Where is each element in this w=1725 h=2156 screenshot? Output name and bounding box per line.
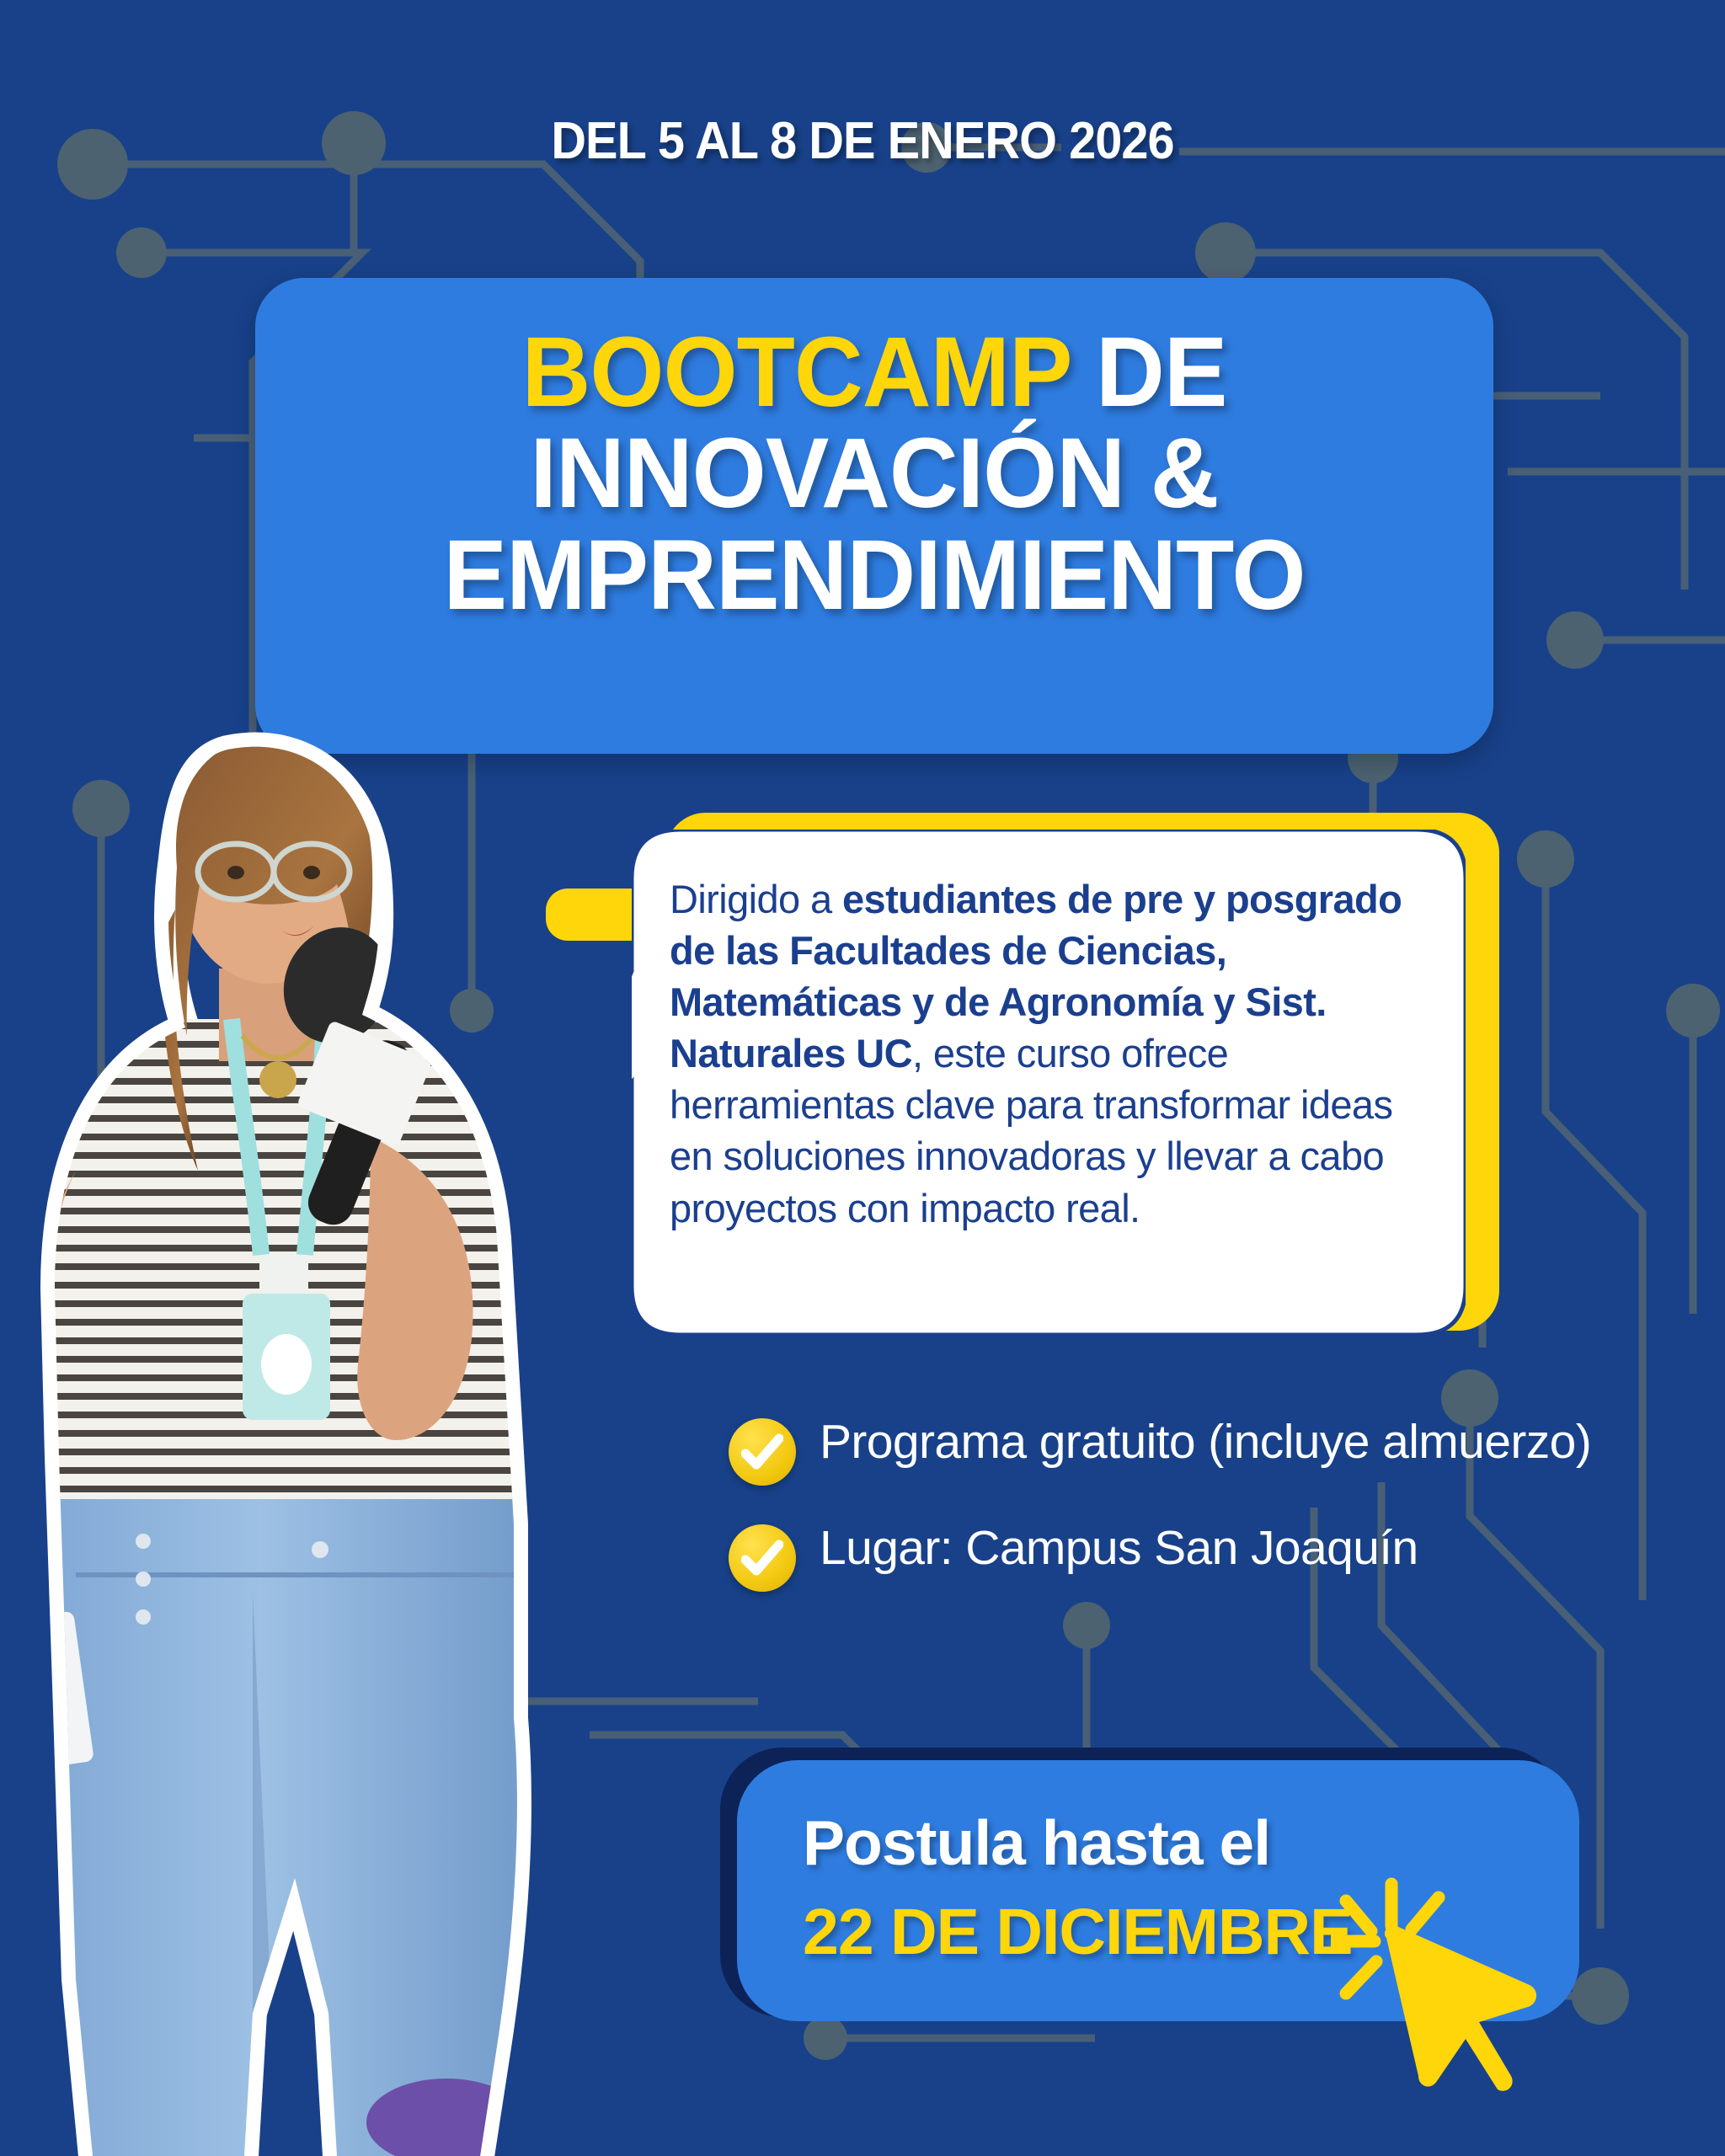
title-line-2: INNOVACIÓN &: [280, 423, 1468, 524]
list-item: Programa gratuito (incluye almuerzo): [729, 1415, 1613, 1486]
list-item-label: Lugar: Campus San Joaquín: [820, 1521, 1418, 1575]
description-card: Dirigido a estudiantes de pre y posgrado…: [632, 830, 1466, 1335]
title-line-1: BOOTCAMP DE: [280, 322, 1468, 423]
feature-list: Programa gratuito (incluye almuerzo) Lug…: [729, 1415, 1613, 1627]
check-circle-icon: [729, 1524, 796, 1592]
cta-line-1: Postula hasta el: [803, 1806, 1270, 1879]
click-cursor-icon: [1331, 1874, 1567, 2152]
title-card: BOOTCAMP DE INNOVACIÓN & EMPRENDIMIENTO: [255, 278, 1493, 754]
speaker-photo: [0, 699, 581, 2156]
list-item: Lugar: Campus San Joaquín: [729, 1521, 1613, 1592]
title-line-1-rest: DE: [1071, 317, 1227, 428]
date-header: DEL 5 AL 8 DE ENERO 2026: [61, 111, 1665, 171]
description-text: Dirigido a estudiantes de pre y posgrado…: [670, 873, 1428, 1234]
poster-root: DEL 5 AL 8 DE ENERO 2026 BOOTCAMP DE INN…: [0, 0, 1725, 2156]
title-highlight-bootcamp: BOOTCAMP: [521, 317, 1070, 428]
check-circle-icon: [729, 1418, 796, 1486]
page-title: BOOTCAMP DE INNOVACIÓN & EMPRENDIMIENTO: [280, 322, 1468, 626]
title-line-3: EMPRENDIMIENTO: [280, 525, 1468, 626]
description-lead: Dirigido a: [670, 877, 842, 921]
list-item-label: Programa gratuito (incluye almuerzo): [820, 1415, 1591, 1469]
cta-deadline-date: 22 DE DICIEMBRE: [803, 1895, 1352, 1970]
